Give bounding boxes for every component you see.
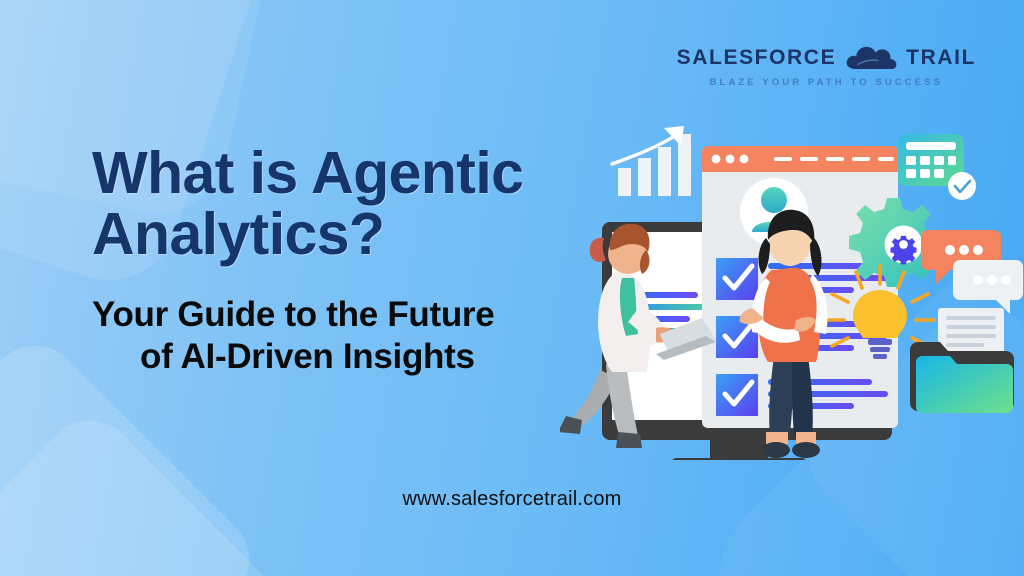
website-url[interactable]: www.salesforcetrail.com — [0, 488, 1024, 511]
page-subtitle: Your Guide to the Future of AI-Driven In… — [92, 294, 612, 379]
window-dot — [712, 155, 721, 164]
subheadline-line-1: Your Guide to the Future — [92, 295, 494, 334]
banner-root: SALESFORCE TRAIL BLAZE YOUR PATH TO SUCC… — [0, 0, 1024, 576]
logo-wordmark: SALESFORCE TRAIL — [677, 44, 976, 70]
window-dot — [740, 155, 749, 164]
chat-bubble-icon — [921, 230, 1023, 314]
subheadline-line-2: of AI-Driven Insights — [92, 336, 612, 379]
window-dot — [726, 155, 735, 164]
headline-line-2: Analytics? — [92, 204, 612, 265]
bar-chart-icon — [612, 126, 691, 196]
cloud-icon — [845, 44, 897, 70]
page-title: What is Agentic Analytics? — [92, 143, 612, 266]
logo-word-right: TRAIL — [906, 47, 976, 68]
headline-line-1: What is Agentic — [92, 140, 523, 206]
hero-illustration — [560, 120, 1024, 460]
logo-tagline: BLAZE YOUR PATH TO SUCCESS — [677, 77, 976, 88]
logo-word-left: SALESFORCE — [677, 47, 837, 68]
calendar-icon — [898, 134, 976, 200]
brand-logo[interactable]: SALESFORCE TRAIL BLAZE YOUR PATH TO SUCC… — [677, 44, 976, 88]
copy-block: What is Agentic Analytics? Your Guide to… — [92, 143, 612, 379]
folder-icon — [910, 308, 1014, 413]
